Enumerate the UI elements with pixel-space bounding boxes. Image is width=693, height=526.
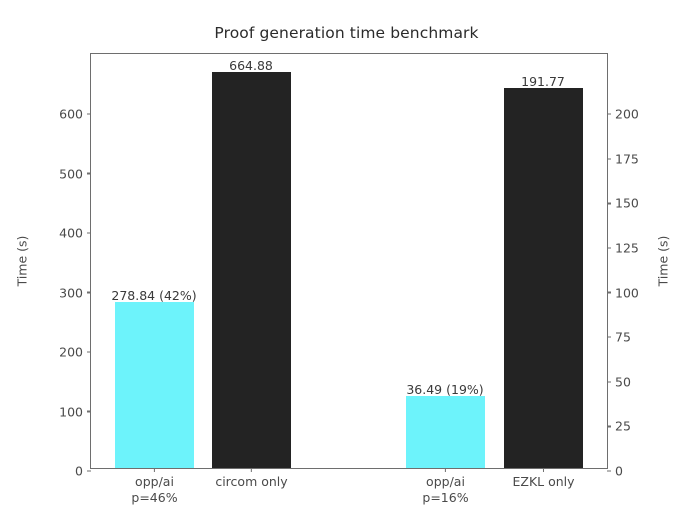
- y-tick-right-label-150: 150: [611, 196, 639, 211]
- bar-value-label-ezkl-only: 191.77: [521, 74, 565, 89]
- y-tick-left-label-0: 0: [75, 464, 87, 479]
- y-tick-right-0: 0: [607, 461, 623, 480]
- x-tick-mark: [154, 468, 155, 472]
- x-tick-opp-ai-p46: opp/ai p=46%: [131, 468, 177, 506]
- y-tick-right-label-50: 50: [611, 374, 631, 389]
- y-tick-left-label-600: 600: [59, 107, 87, 122]
- y-tick-right-75: 75: [607, 327, 631, 346]
- y-tick-right-50: 50: [607, 371, 631, 390]
- y-tick-mark: [87, 351, 91, 352]
- y-tick-left-100: 100: [59, 401, 91, 420]
- bar-ezkl-only: [504, 88, 583, 468]
- y-tick-right-25: 25: [607, 416, 631, 435]
- y-tick-right-label-25: 25: [611, 419, 631, 434]
- y-tick-left-label-100: 100: [59, 404, 87, 419]
- y-tick-left-label-400: 400: [59, 226, 87, 241]
- x-tick-ezkl-only: EZKL only: [512, 468, 574, 490]
- y-tick-mark: [87, 232, 91, 233]
- y-tick-left-label-200: 200: [59, 345, 87, 360]
- bar-opp-ai-p46: [115, 302, 194, 468]
- y-tick-left-400: 400: [59, 223, 91, 242]
- plot-area: 278.84 (42%) 664.88 36.49 (19%) 191.77 0…: [90, 53, 608, 469]
- y-tick-right-100: 100: [607, 282, 639, 301]
- x-tick-mark: [543, 468, 544, 472]
- y-tick-left-200: 200: [59, 342, 91, 361]
- y-tick-right-150: 150: [607, 193, 639, 212]
- y-axis-label-right: Time (s): [656, 236, 671, 287]
- y-tick-left-label-500: 500: [59, 166, 87, 181]
- y-tick-right-label-75: 75: [611, 330, 631, 345]
- y-tick-right-label-100: 100: [611, 285, 639, 300]
- y-tick-mark: [87, 470, 91, 471]
- x-tick-circom-only: circom only: [215, 468, 287, 490]
- y-tick-left-300: 300: [59, 282, 91, 301]
- y-axis-label-left: Time (s): [15, 236, 30, 287]
- y-tick-right-label-200: 200: [611, 107, 639, 122]
- y-tick-mark: [87, 173, 91, 174]
- x-tick-label-ezkl-only: EZKL only: [512, 474, 574, 490]
- y-tick-right-label-125: 125: [611, 241, 639, 256]
- y-tick-left-label-300: 300: [59, 285, 87, 300]
- x-tick-opp-ai-p16: opp/ai p=16%: [422, 468, 468, 506]
- chart-figure: Proof generation time benchmark 278.84 (…: [0, 0, 693, 526]
- bar-circom-only: [212, 72, 291, 468]
- y-tick-left-600: 600: [59, 104, 91, 123]
- x-tick-label-opp-ai-p46: opp/ai p=46%: [131, 474, 177, 506]
- y-tick-right-175: 175: [607, 148, 639, 167]
- bar-value-label-opp-ai-p16: 36.49 (19%): [406, 382, 483, 397]
- chart-title: Proof generation time benchmark: [0, 24, 693, 42]
- y-tick-right-200: 200: [607, 104, 639, 123]
- y-tick-left-0: 0: [75, 461, 91, 480]
- y-tick-mark: [87, 411, 91, 412]
- x-tick-label-opp-ai-p16: opp/ai p=16%: [422, 474, 468, 506]
- y-tick-right-label-0: 0: [611, 464, 623, 479]
- x-tick-mark: [445, 468, 446, 472]
- bar-value-label-circom-only: 664.88: [229, 58, 273, 73]
- y-tick-right-125: 125: [607, 238, 639, 257]
- bar-opp-ai-p16: [406, 396, 485, 468]
- y-tick-right-label-175: 175: [611, 151, 639, 166]
- x-tick-label-circom-only: circom only: [215, 474, 287, 490]
- y-tick-left-500: 500: [59, 163, 91, 182]
- x-tick-mark: [251, 468, 252, 472]
- bar-value-label-opp-ai-p46: 278.84 (42%): [111, 288, 196, 303]
- y-tick-mark: [87, 292, 91, 293]
- y-tick-mark: [87, 113, 91, 114]
